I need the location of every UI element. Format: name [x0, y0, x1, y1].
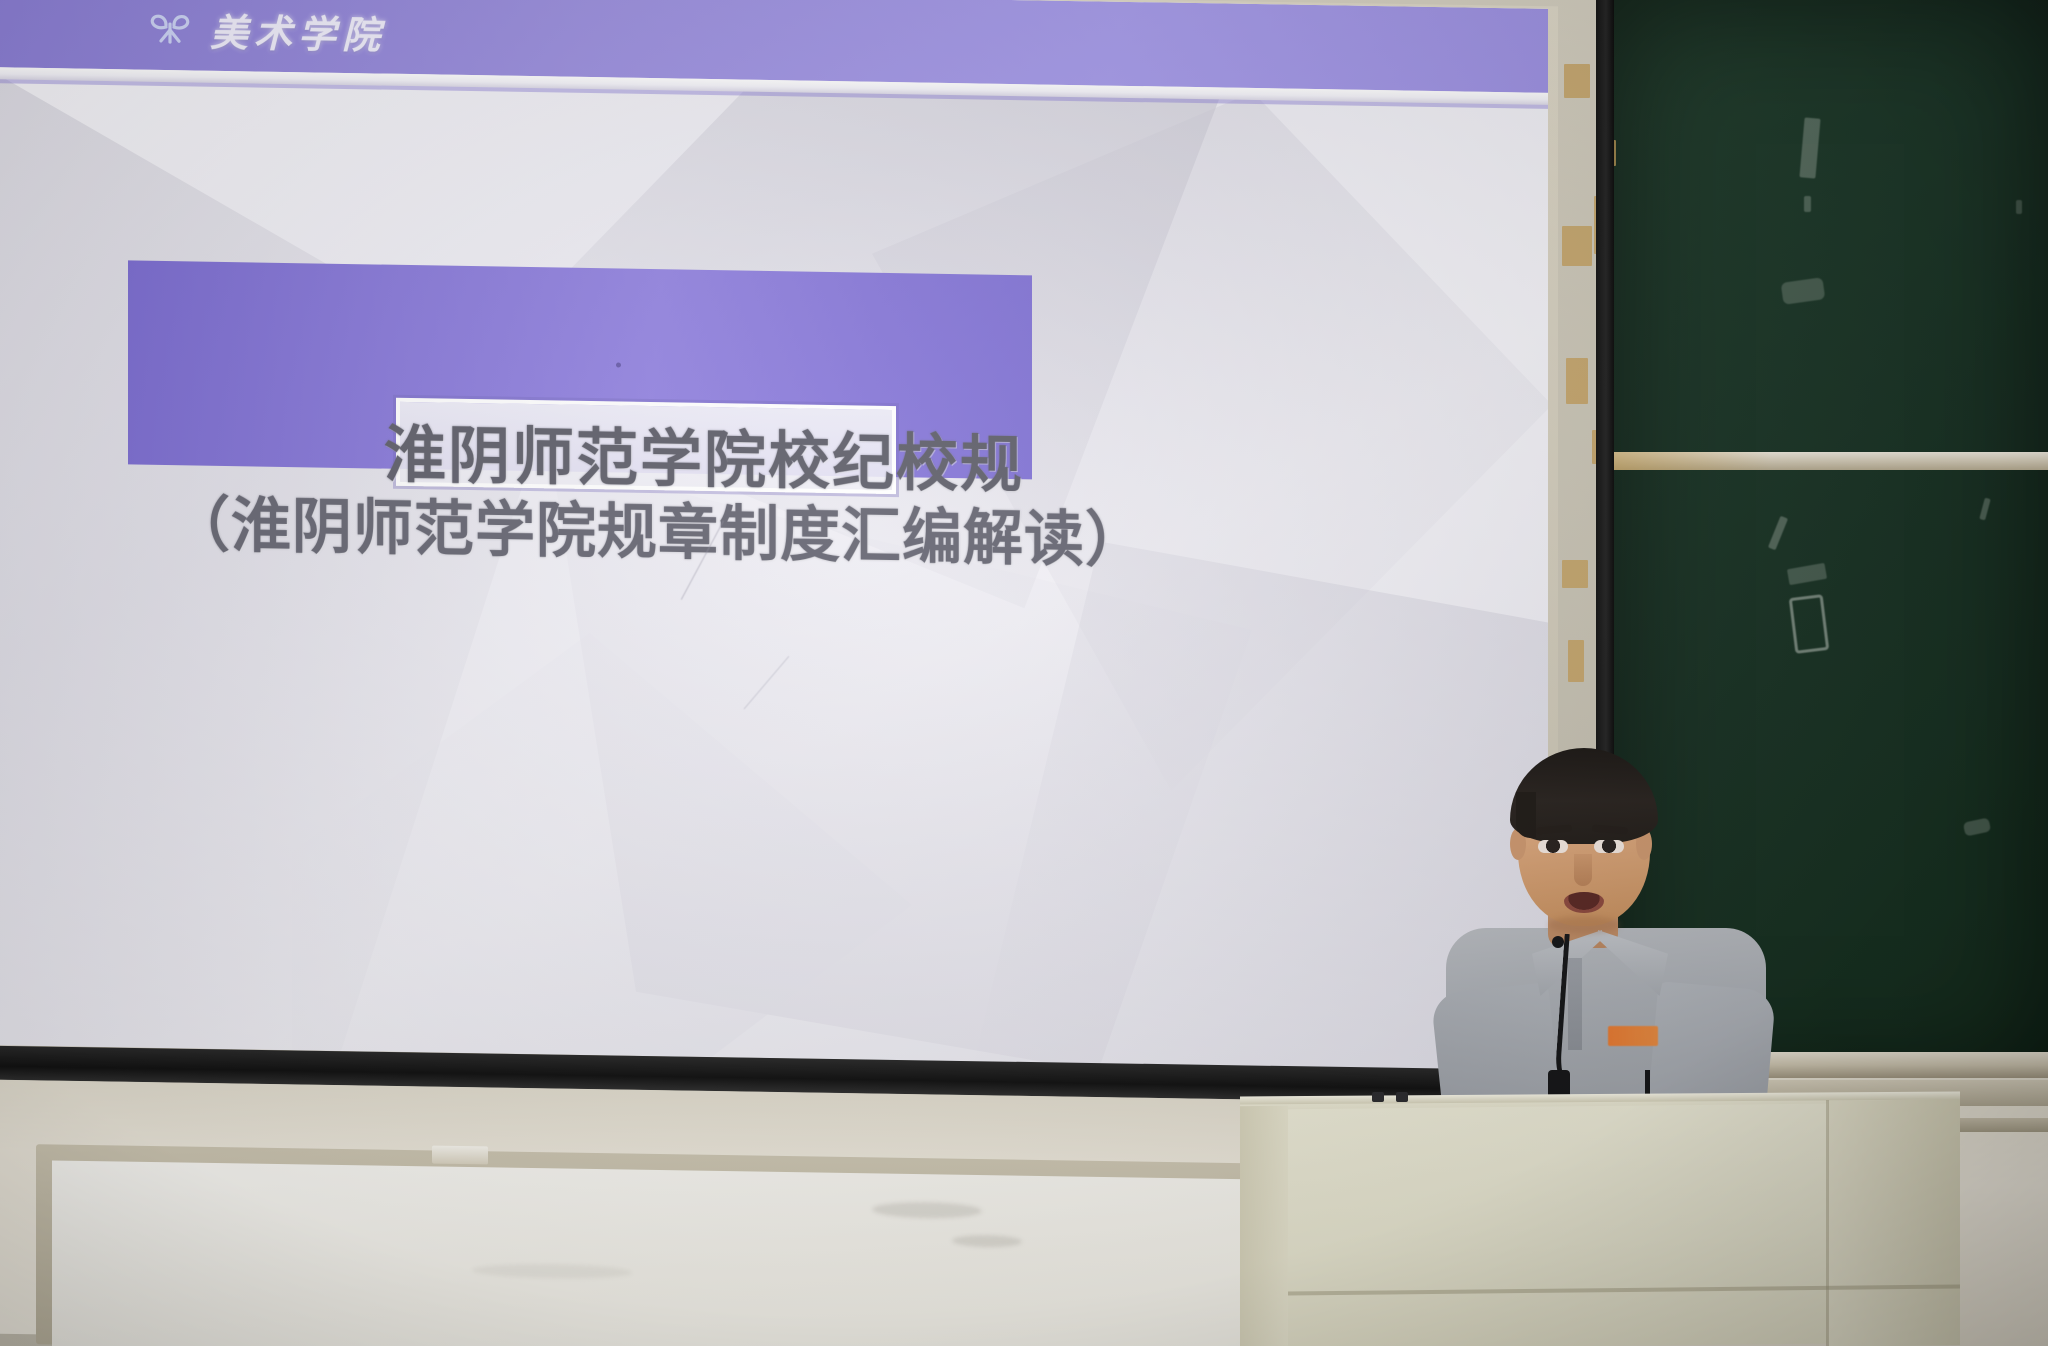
presenter-hair: [1510, 748, 1658, 844]
brand-text: 美术学院: [210, 1, 386, 59]
chalk-mark: [2016, 200, 2022, 214]
lectern-knob[interactable]: [1372, 1092, 1384, 1102]
butterfly-logo-icon: [144, 8, 196, 49]
lectern-side-panel: [1828, 1099, 1960, 1346]
presenter-chin-shadow: [1548, 916, 1620, 934]
lectern-side-panel: [1240, 1106, 1288, 1346]
chalkboard-rail: [1612, 452, 2048, 470]
chalk-mark: [1963, 817, 1991, 836]
brand-lockup: 美术学院: [144, 0, 386, 59]
lectern-seam: [1826, 1100, 1829, 1346]
presenter-eye: [1594, 840, 1624, 853]
slide-subtitle: （淮阴师范学院规章制度汇编解读）: [168, 476, 1148, 579]
chalk-mark: [1799, 117, 1820, 178]
microphone-icon: [1552, 936, 1564, 948]
presenter-eye: [1538, 840, 1568, 853]
chalk-mark: [1768, 516, 1788, 551]
whiteboard-clip[interactable]: [432, 1146, 488, 1165]
lectern-knob[interactable]: [1396, 1092, 1408, 1102]
chalk-mark: [1804, 196, 1811, 212]
projection-screen: 美术学院 淮阴师范学院校纪校规 （淮阴师范学院规章制度汇编解读）: [0, 0, 1548, 1071]
presenter-nose: [1574, 854, 1592, 886]
chalk-mark: [1979, 498, 1990, 521]
chalk-mark: [1787, 563, 1827, 585]
lecture-hall-scene: 美术学院 淮阴师范学院校纪校规 （淮阴师范学院规章制度汇编解读）: [0, 0, 2048, 1346]
chalk-mark: [1789, 594, 1830, 654]
chalk-mark: [1781, 277, 1826, 305]
